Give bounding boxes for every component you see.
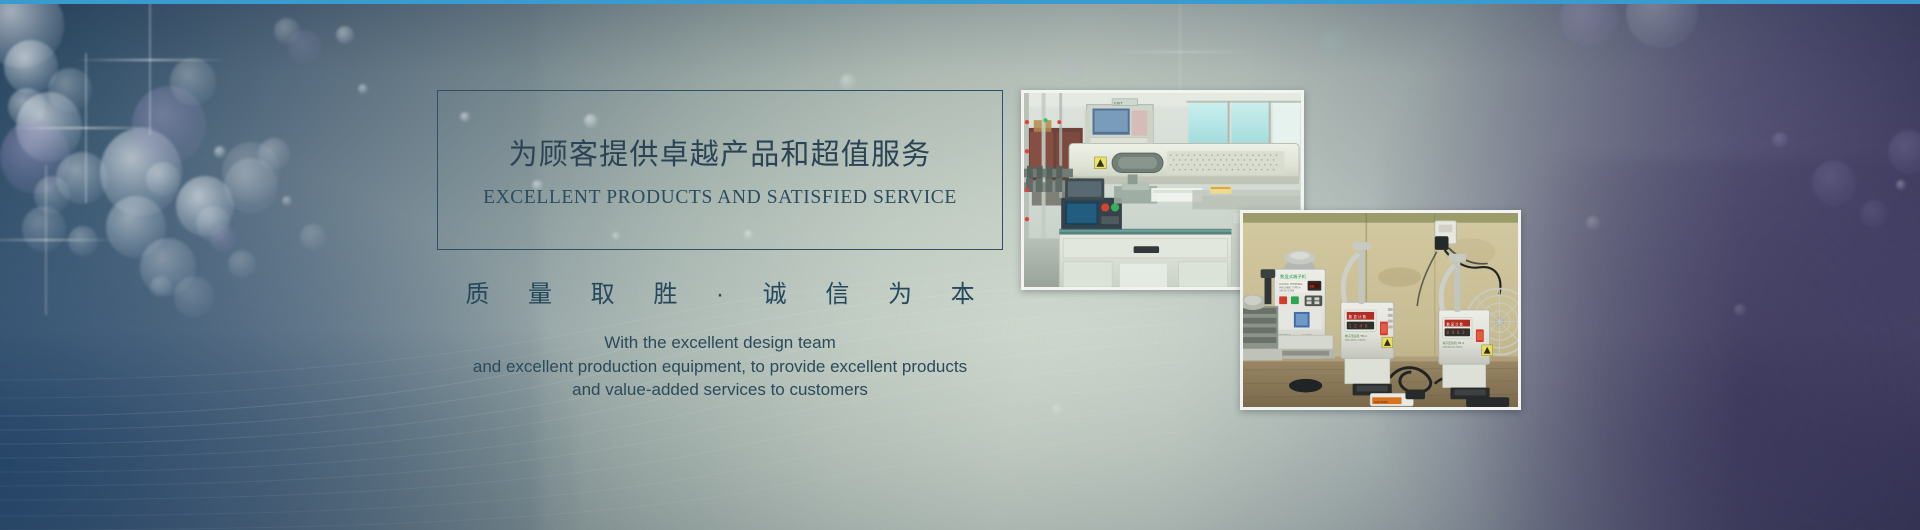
slogan-chinese: 质 量 取 胜 · 诚 信 为 本 bbox=[437, 274, 1003, 309]
description-line: With the excellent design team bbox=[437, 331, 1003, 355]
description-paragraph: With the excellent design team and excel… bbox=[437, 331, 1003, 402]
promo-banner: 为顾客提供卓越产品和超值服务 EXCELLENT PRODUCTS AND SA… bbox=[0, 0, 1920, 530]
top-accent-rule bbox=[0, 0, 1920, 4]
headline-frame: 为顾客提供卓越产品和超值服务 EXCELLENT PRODUCTS AND SA… bbox=[437, 90, 1003, 250]
headline-chinese: 为顾客提供卓越产品和超值服务 bbox=[509, 131, 932, 173]
banner-copy: 为顾客提供卓越产品和超值服务 EXCELLENT PRODUCTS AND SA… bbox=[437, 90, 1003, 402]
description-line: and excellent production equipment, to p… bbox=[437, 355, 1003, 379]
photo-press: 数显式端子机 DIGITAL TERMINAL MACHINE TYPE-A S… bbox=[1240, 210, 1521, 410]
description-line: and value-added services to customers bbox=[437, 378, 1003, 402]
headline-english: EXCELLENT PRODUCTS AND SATISFIED SERVICE bbox=[483, 187, 957, 209]
photo-press-image: 数显式端子机 DIGITAL TERMINAL MACHINE TYPE-A S… bbox=[1243, 213, 1518, 407]
